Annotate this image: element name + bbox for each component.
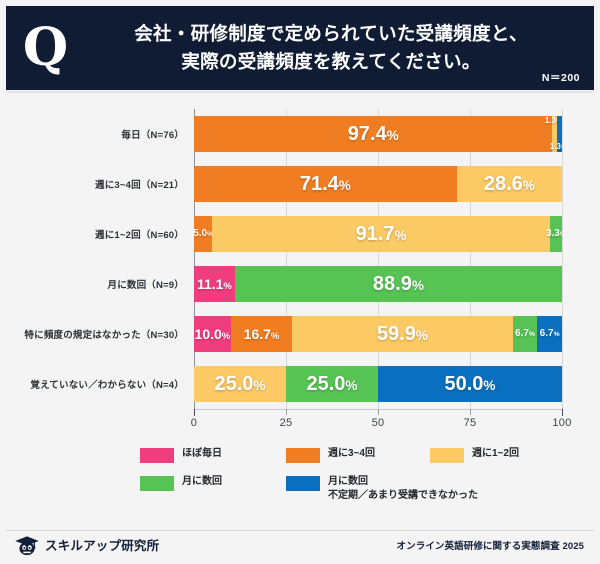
bar-segment[interactable]: 91.7% [212,216,549,252]
bar-segment[interactable]: 10.0% [194,316,231,352]
page-footer: スキルアップ研究所 オンライン英語研修に関する実態調査 2025 [6,530,594,558]
segment-value-label: 11.1% [197,277,232,292]
x-tick [378,409,379,415]
bar-segment[interactable]: 25.0% [194,366,286,402]
x-tick-label: 0 [191,417,197,429]
bar-segment[interactable]: 50.0% [378,366,562,402]
bar-segment[interactable]: 97.4% [194,116,552,152]
bar-segment[interactable]: 6.7% [537,316,562,352]
brand-logo: スキルアップ研究所 [14,534,159,556]
legend-swatch [140,476,174,491]
bar-row: 月に数回（N=9）11.1%88.9% [6,259,594,309]
bar-row: 特に頻度の規定はなかった（N=30）10.0%16.7%59.9%6.7%6.7… [6,309,594,359]
segment-value-label: 28.6% [484,174,535,194]
segment-value-label: 6.7% [515,329,535,339]
segment-value-label: 50.0% [444,374,495,394]
x-axis: 0255075100 [194,409,563,435]
survey-title: オンライン英語研修に関する実態調査 2025 [397,538,584,552]
x-tick-label: 75 [464,417,477,429]
stacked-bar: 5.0%91.7%3.3% [194,216,562,252]
segment-value-label: 10.0% [195,327,231,342]
bar-segment[interactable]: 1.3% [557,116,562,152]
segment-value-label: 97.4% [348,124,399,144]
x-tick-label: 50 [372,417,385,429]
x-tick [286,409,287,415]
segment-value-label: 6.7% [540,329,560,339]
legend-swatch [286,448,320,463]
legend-item[interactable]: 週に1~2回 [430,447,519,463]
bar-segment[interactable]: 3.3% [550,216,562,252]
legend-swatch [140,448,174,463]
graduation-cap-mascot-icon [14,534,40,556]
category-label: 特に頻度の規定はなかった（N=30） [6,309,184,359]
sample-size-label: N＝200 [542,70,580,85]
question-badge: Q [6,22,84,74]
x-tick-label: 100 [552,417,571,429]
bar-segment[interactable]: 88.9% [235,266,562,302]
category-label: 週に1~2回（N=60） [6,209,184,259]
header-divider [6,91,594,93]
bar-segment[interactable]: 11.1% [194,266,235,302]
bar-row: 覚えていない／わからない（N=4）25.0%25.0%50.0% [6,359,594,409]
segment-value-label: 25.0% [306,374,357,394]
chart-card: 毎日（N=76）97.4%1.3%1.3%週に3~4回（N=21）71.4%28… [6,95,594,525]
stacked-bar: 97.4%1.3%1.3% [194,116,562,152]
legend-label: 月に数回不定期／あまり受講できなかった [328,475,478,502]
legend-swatch [286,476,320,491]
legend-item[interactable]: ほぼ毎日 [140,447,222,463]
plot-area: 毎日（N=76）97.4%1.3%1.3%週に3~4回（N=21）71.4%28… [6,95,594,435]
legend-label: 週に3~4回 [328,447,375,461]
legend-item[interactable]: 月に数回不定期／あまり受講できなかった [286,475,478,502]
legend-label: ほぼ毎日 [182,447,222,461]
segment-value-label: 88.9% [373,274,424,294]
bar-segment[interactable]: 59.9% [292,316,512,352]
legend-item[interactable]: 月に数回 [140,475,222,491]
x-tick-label: 25 [280,417,293,429]
legend-item[interactable]: 週に3~4回 [286,447,375,463]
segment-value-label: 91.7% [356,224,407,244]
question-header: Q 会社・研修制度で定められていた受講頻度と、 実際の受講頻度を教えてください。… [6,6,594,90]
x-tick [470,409,471,415]
bar-segment[interactable]: 25.0% [286,366,378,402]
legend-label: 月に数回 [182,475,222,489]
category-label: 月に数回（N=9） [6,259,184,309]
segment-value-label: 5.0% [194,229,213,239]
question-line-1: 会社・研修制度で定められていた受講頻度と、 [84,20,578,48]
legend-label: 週に1~2回 [472,447,519,461]
segment-value-label: 16.7% [244,327,280,342]
bar-segment[interactable]: 16.7% [231,316,292,352]
stacked-bar: 11.1%88.9% [194,266,562,302]
question-line-2: 実際の受講頻度を教えてください。 [84,48,578,76]
bar-row: 週に1~2回（N=60）5.0%91.7%3.3% [6,209,594,259]
segment-value-label: 71.4% [300,174,351,194]
segment-value-label: 25.0% [214,374,265,394]
category-label: 覚えていない／わからない（N=4） [6,359,184,409]
segment-value-label: 59.9% [377,324,428,344]
bar-row: 毎日（N=76）97.4%1.3%1.3% [6,109,594,159]
x-tick [194,409,195,416]
chart-page: Q 会社・研修制度で定められていた受講頻度と、 実際の受講頻度を教えてください。… [0,0,600,564]
bar-segment[interactable]: 28.6% [457,166,562,202]
category-label: 毎日（N=76） [6,109,184,159]
q-letter-icon: Q [23,22,67,74]
chart-legend: ほぼ毎日週に3~4回週に1~2回月に数回月に数回不定期／あまり受講できなかった [6,443,594,517]
stacked-bar: 71.4%28.6% [194,166,562,202]
x-tick [562,409,563,416]
legend-swatch [430,448,464,463]
stacked-bar: 25.0%25.0%50.0% [194,366,562,402]
segment-value-label: 3.3% [546,229,562,239]
stacked-bar: 10.0%16.7%59.9%6.7%6.7% [194,316,562,352]
segment-value-label: 1.3% [550,143,562,151]
category-label: 週に3~4回（N=21） [6,159,184,209]
bar-segment[interactable]: 6.7% [513,316,538,352]
bar-row: 週に3~4回（N=21）71.4%28.6% [6,159,594,209]
brand-name: スキルアップ研究所 [45,535,159,554]
question-text: 会社・研修制度で定められていた受講頻度と、 実際の受講頻度を教えてください。 [84,20,594,76]
bar-segment[interactable]: 71.4% [194,166,457,202]
bar-rows: 毎日（N=76）97.4%1.3%1.3%週に3~4回（N=21）71.4%28… [6,109,594,409]
bar-segment[interactable]: 5.0% [194,216,212,252]
